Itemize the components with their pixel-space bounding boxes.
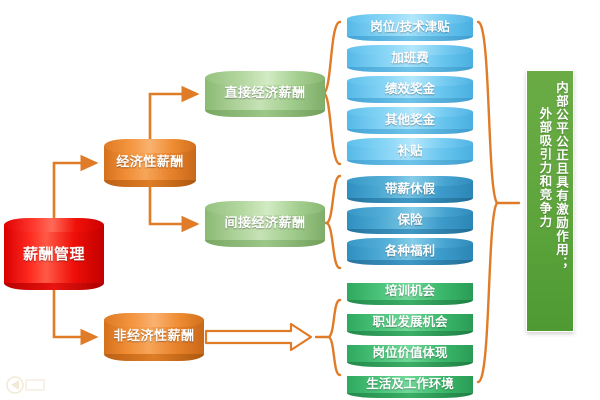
connector-layer — [0, 0, 600, 400]
leaf-training-opportunity[interactable]: 培训机会 — [347, 278, 473, 305]
summary-panel[interactable]: 内部公平公正且具有激励作用； 外部吸引力和竞争力 — [526, 70, 574, 332]
connector-economic-to-direct — [150, 94, 197, 139]
leaf-other-bonus[interactable]: 其他奖金 — [347, 107, 473, 134]
leaf-label: 培训机会 — [382, 285, 438, 298]
leaf-label: 岗位价值体现 — [369, 347, 450, 360]
cylinder-cap — [104, 313, 204, 327]
leaf-overtime-pay[interactable]: 加班费 — [347, 45, 473, 72]
cylinder-cap — [104, 139, 196, 153]
brace-all-to-summary — [478, 22, 519, 382]
node-label: 间接经济薪酬 — [220, 217, 309, 231]
node-label: 直接经济薪酬 — [220, 87, 309, 101]
leaf-career-development[interactable]: 职业发展机会 — [347, 309, 473, 336]
leaf-paid-leave[interactable]: 带薪休假 — [347, 176, 473, 203]
leaf-performance-bonus[interactable]: 绩效奖金 — [347, 76, 473, 103]
leaf-label: 保险 — [394, 214, 425, 227]
leaf-label: 补贴 — [394, 145, 425, 158]
leaf-label: 岗位/技术津贴 — [367, 21, 453, 34]
cylinder-cap — [4, 218, 104, 232]
node-label: 薪酬管理 — [19, 246, 89, 263]
connector-economic-to-indirect — [150, 187, 197, 224]
node-label: 经济性薪酬 — [112, 156, 188, 170]
leaf-various-benefits[interactable]: 各种福利 — [347, 238, 473, 265]
leaf-life-and-work-environment[interactable]: 生活及工作环境 — [347, 371, 473, 398]
watermark-logo — [6, 374, 46, 396]
leaf-label: 各种福利 — [382, 245, 438, 258]
leaf-label: 生活及工作环境 — [363, 378, 457, 391]
node-indirect-economic-compensation[interactable]: 间接经济薪酬 — [205, 201, 325, 247]
leaf-label: 加班费 — [388, 52, 432, 65]
node-label: 非经济性薪酬 — [109, 330, 198, 344]
node-root-compensation-management[interactable]: 薪酬管理 — [4, 218, 104, 290]
leaf-post-tech-allowance[interactable]: 岗位/技术津贴 — [347, 14, 473, 41]
leaf-label: 绩效奖金 — [382, 83, 438, 96]
diagram-canvas: 薪酬管理 经济性薪酬 非经济性薪酬 直接经济薪酬 间接经济薪酬 岗位/技术津贴 — [0, 0, 600, 400]
leaf-label: 带薪休假 — [382, 183, 438, 196]
node-direct-economic-compensation[interactable]: 直接经济薪酬 — [205, 71, 325, 117]
cylinder-cap — [205, 201, 325, 215]
summary-line-internal-equity: 内部公平公正且具有激励作用； — [553, 81, 569, 270]
summary-line-external-attraction: 外部吸引力和竞争力 — [537, 81, 553, 229]
connector-root-to-noneconomic — [54, 290, 96, 337]
leaf-job-value-realization[interactable]: 岗位价值体现 — [347, 340, 473, 367]
brace-noneconomic-items — [316, 300, 340, 375]
leaf-subsidy[interactable]: 补贴 — [347, 138, 473, 165]
connector-noneconomic-to-items — [206, 324, 311, 350]
connector-root-to-economic — [54, 163, 96, 218]
leaf-label: 职业发展机会 — [369, 316, 450, 329]
leaf-label: 其他奖金 — [382, 114, 438, 127]
leaf-insurance[interactable]: 保险 — [347, 207, 473, 234]
node-noneconomic-compensation[interactable]: 非经济性薪酬 — [104, 313, 204, 361]
node-economic-compensation[interactable]: 经济性薪酬 — [104, 139, 196, 187]
cylinder-cap — [205, 71, 325, 85]
